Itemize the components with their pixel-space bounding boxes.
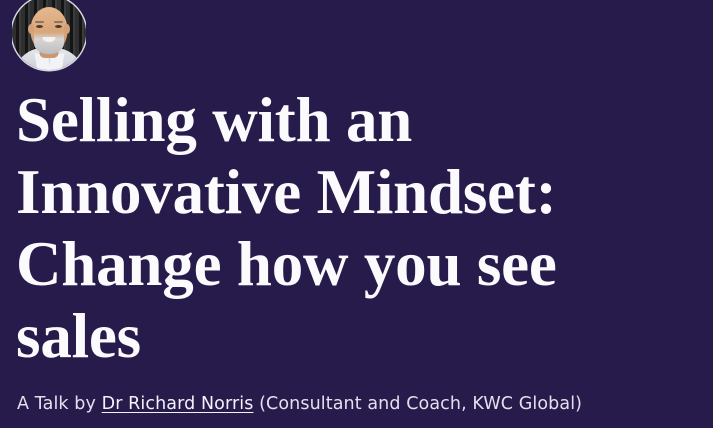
speaker-link[interactable]: Dr Richard Norris	[102, 394, 254, 414]
avatar-eye-right	[55, 25, 62, 28]
avatar-ear-right	[64, 24, 70, 34]
avatar-beard	[34, 32, 64, 54]
talk-title: Selling with an Innovative Mindset: Chan…	[16, 84, 706, 372]
talk-cover-card: Selling with an Innovative Mindset: Chan…	[0, 0, 713, 428]
byline-suffix: (Consultant and Coach, KWC Global)	[253, 394, 582, 414]
avatar	[12, 0, 86, 74]
avatar-eye-left	[36, 25, 43, 28]
speaker-avatar-photo	[12, 0, 86, 70]
byline-prefix: A Talk by	[17, 394, 102, 414]
avatar-brow-left	[35, 21, 44, 23]
talk-byline: A Talk by Dr Richard Norris (Consultant …	[17, 392, 582, 416]
avatar-brow-right	[54, 21, 63, 23]
